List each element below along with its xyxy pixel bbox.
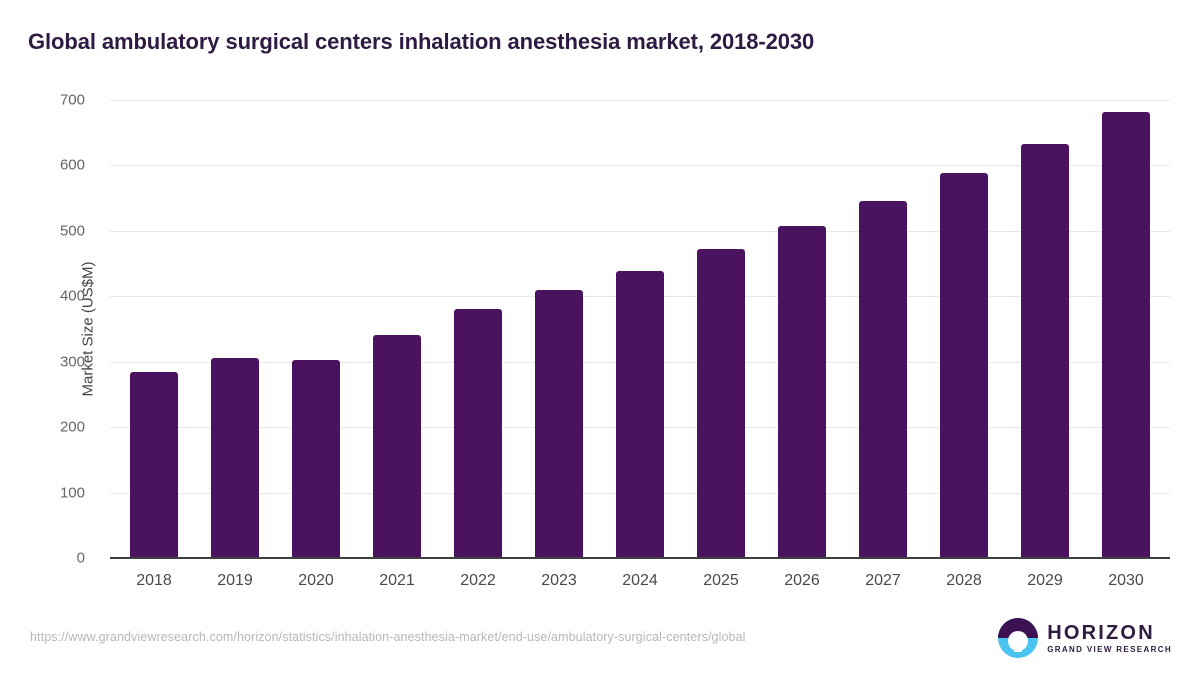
- x-tick-label-2030: 2030: [1086, 572, 1166, 590]
- logo-tagline: GRAND VIEW RESEARCH: [1047, 646, 1172, 654]
- x-axis-line: [110, 557, 1170, 559]
- x-tick-label-2022: 2022: [438, 572, 518, 590]
- logo-ray-1: [1009, 642, 1027, 644]
- x-tick-label-2023: 2023: [519, 572, 599, 590]
- x-tick-label-2019: 2019: [195, 572, 275, 590]
- plot-area: Market Size (US$M) 010020030040050060070…: [110, 100, 1170, 558]
- chart-card: Global ambulatory surgical centers inhal…: [0, 0, 1200, 675]
- y-tick-label: 700: [15, 92, 85, 109]
- bar-2021[interactable]: [373, 335, 421, 558]
- x-tick-label-2018: 2018: [114, 572, 194, 590]
- bar-2028[interactable]: [940, 173, 988, 558]
- bar-2022[interactable]: [454, 309, 502, 558]
- bar-2025[interactable]: [697, 249, 745, 558]
- bar-series: [110, 100, 1170, 558]
- logo-ray-3: [1014, 650, 1022, 652]
- x-tick-label-2020: 2020: [276, 572, 356, 590]
- y-tick-label: 600: [15, 157, 85, 174]
- y-tick-label: 200: [15, 419, 85, 436]
- bar-2029[interactable]: [1021, 144, 1069, 558]
- bar-2020[interactable]: [292, 360, 340, 558]
- x-tick-label-2026: 2026: [762, 572, 842, 590]
- bar-2027[interactable]: [859, 201, 907, 558]
- x-tick-label-2027: 2027: [843, 572, 923, 590]
- bar-2018[interactable]: [130, 372, 178, 558]
- x-tick-label-2025: 2025: [681, 572, 761, 590]
- bar-2024[interactable]: [616, 271, 664, 558]
- y-tick-label: 400: [15, 288, 85, 305]
- y-tick-label: 100: [15, 484, 85, 501]
- x-tick-label-2021: 2021: [357, 572, 437, 590]
- horizon-sunrise-circle-icon: [998, 618, 1038, 658]
- x-tick-label-2029: 2029: [1005, 572, 1085, 590]
- y-axis-label: Market Size (US$M): [80, 261, 97, 396]
- bar-2019[interactable]: [211, 358, 259, 558]
- logo-wordmark: HORIZON: [1047, 623, 1172, 643]
- horizon-logo[interactable]: HORIZON GRAND VIEW RESEARCH: [998, 618, 1172, 658]
- source-url[interactable]: https://www.grandviewresearch.com/horizo…: [30, 630, 746, 644]
- x-tick-label-2024: 2024: [600, 572, 680, 590]
- x-tick-label-2028: 2028: [924, 572, 1004, 590]
- logo-text: HORIZON GRAND VIEW RESEARCH: [1047, 623, 1172, 654]
- bar-2023[interactable]: [535, 290, 583, 558]
- bar-2026[interactable]: [778, 226, 826, 558]
- page-title: Global ambulatory surgical centers inhal…: [28, 28, 1138, 56]
- y-tick-label: 0: [15, 550, 85, 567]
- y-tick-label: 300: [15, 353, 85, 370]
- bar-2030[interactable]: [1102, 112, 1150, 558]
- logo-ray-2: [1012, 646, 1025, 648]
- y-tick-label: 500: [15, 222, 85, 239]
